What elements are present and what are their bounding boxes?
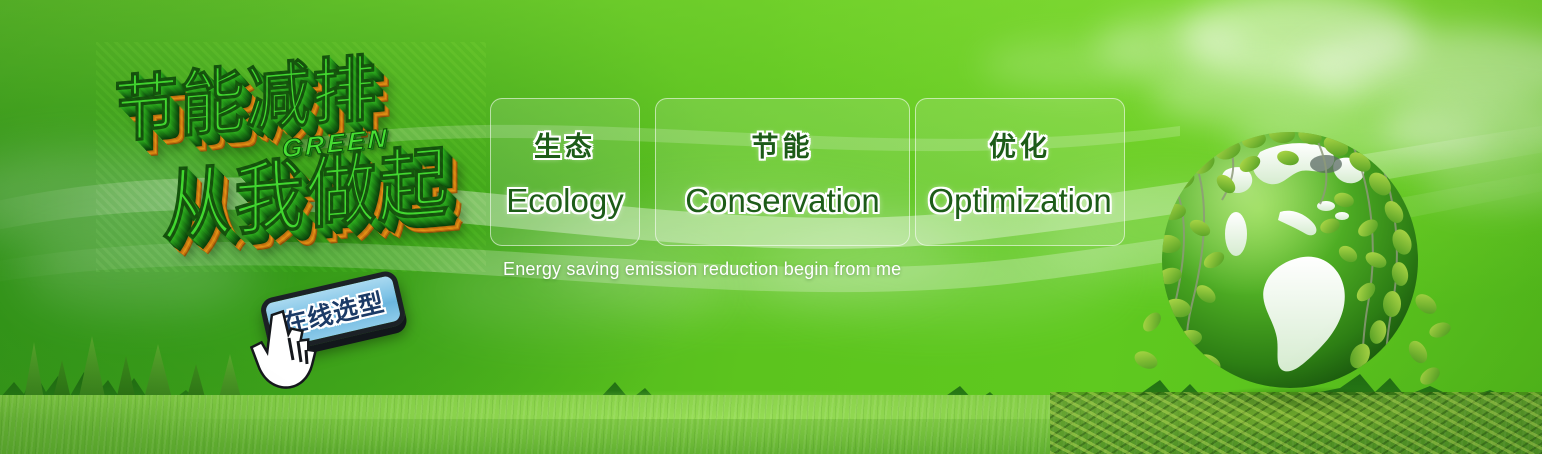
leaf-litter-texture xyxy=(1050,392,1542,454)
headline-line-2: 从我做起 xyxy=(162,119,450,257)
feature-panel-conservation[interactable]: 节能 Conservation xyxy=(655,98,910,246)
feature-cn-label: 生态 xyxy=(534,125,596,164)
eco-promo-banner: 节能减排 GREEN 从我做起 生态 Ecology 节能 Conservati… xyxy=(0,0,1542,454)
feature-cn-label: 优化 xyxy=(989,125,1051,164)
cta-group: 在线选型 xyxy=(255,270,430,380)
feature-en-label: Conservation xyxy=(685,182,879,220)
headline-3d: 节能减排 GREEN 从我做起 xyxy=(96,42,486,272)
feature-panel-optimization[interactable]: 优化 Optimization xyxy=(915,98,1125,246)
feature-panel-ecology[interactable]: 生态 Ecology xyxy=(490,98,640,246)
hand-pointer-icon xyxy=(249,308,327,392)
leafy-earth-globe xyxy=(1130,108,1460,428)
feature-cn-label: 节能 xyxy=(752,125,814,164)
leaf-litter-icon xyxy=(1050,392,1542,454)
feature-en-label: Optimization xyxy=(928,182,1111,220)
feature-en-label: Ecology xyxy=(506,182,623,220)
tagline: Energy saving emission reduction begin f… xyxy=(503,259,901,280)
cloud-icon xyxy=(980,40,1160,90)
